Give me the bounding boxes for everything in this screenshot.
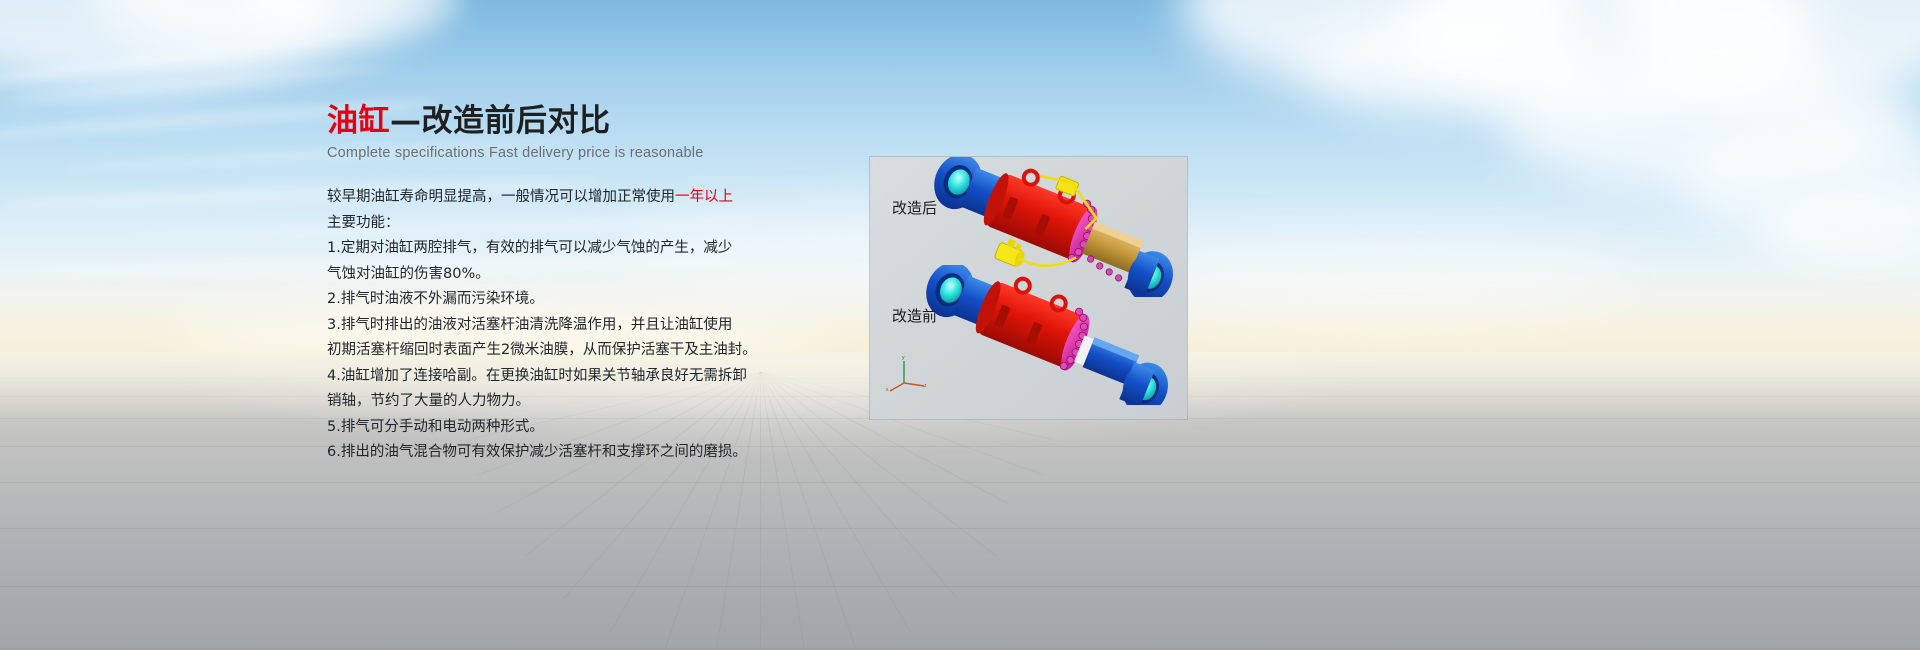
page-title-highlight: 油缸 bbox=[327, 103, 390, 139]
body-copy: 较早期油缸寿命明显提高，一般情况可以增加正常使用一年以上 主要功能： 1.定期对… bbox=[327, 185, 847, 466]
body-line: 1.定期对油缸两腔排气，有效的排气可以减少气蚀的产生，减少 bbox=[327, 236, 847, 262]
page-title-rest: —改造前后对比 bbox=[390, 103, 611, 139]
body-line: 气蚀对油缸的伤害80%。 bbox=[327, 262, 847, 288]
body-line: 3.排气时排出的油液对活塞杆油清洗降温作用，并且让油缸使用 bbox=[327, 313, 847, 339]
body-line: 主要功能： bbox=[327, 211, 847, 237]
tile-line bbox=[0, 482, 1920, 483]
body-line: 初期活塞杆缩回时表面产生2微米油膜，从而保护活塞干及主油封。 bbox=[327, 338, 847, 364]
body-line-text: 1.定期对油缸两腔排气，有效的排气可以减少气蚀的产生，减少 bbox=[327, 240, 732, 256]
body-line-text: 2.排气时油液不外漏而污染环境。 bbox=[327, 291, 544, 307]
body-line-text: 主要功能： bbox=[327, 215, 400, 231]
body-line: 较早期油缸寿命明显提高，一般情况可以增加正常使用一年以上 bbox=[327, 185, 847, 211]
svg-text:z: z bbox=[924, 383, 927, 389]
body-line: 5.排气可分手动和电动两种形式。 bbox=[327, 415, 847, 441]
body-line: 4.油缸增加了连接哈副。在更换油缸时如果关节轴承良好无需拆卸 bbox=[327, 364, 847, 390]
comparison-image-panel: 改造后 改造前 bbox=[870, 157, 1187, 419]
body-line: 6.排出的油气混合物可有效保护减少活塞杆和支撑环之间的磨损。 bbox=[327, 440, 847, 466]
hydraulic-cylinder-before-render bbox=[906, 265, 1186, 405]
body-line-text: 初期活塞杆缩回时表面产生2微米油膜，从而保护活塞干及主油封。 bbox=[327, 342, 757, 358]
body-line-text: 6.排出的油气混合物可有效保护减少活塞杆和支撑环之间的磨损。 bbox=[327, 444, 747, 460]
coordinate-triad-icon: x y z bbox=[886, 353, 930, 393]
body-line-text: 气蚀对油缸的伤害80%。 bbox=[327, 266, 490, 282]
svg-text:x: x bbox=[886, 387, 889, 393]
tile-line bbox=[0, 586, 1920, 587]
tile-line bbox=[0, 446, 1920, 447]
body-line-text: 销轴，节约了大量的人力物力。 bbox=[327, 393, 530, 409]
text-column: 油缸—改造前后对比 Complete specifications Fast d… bbox=[327, 104, 847, 466]
tile-line bbox=[0, 648, 1920, 649]
page-title: 油缸—改造前后对比 bbox=[327, 104, 847, 138]
body-line-text: 较早期油缸寿命明显提高，一般情况可以增加正常使用 bbox=[327, 189, 675, 205]
body-line-text: 5.排气可分手动和电动两种形式。 bbox=[327, 419, 544, 435]
banner-stage: 油缸—改造前后对比 Complete specifications Fast d… bbox=[0, 0, 1920, 650]
body-line: 销轴，节约了大量的人力物力。 bbox=[327, 389, 847, 415]
body-line: 2.排气时油液不外漏而污染环境。 bbox=[327, 287, 847, 313]
cloud bbox=[1150, 230, 1630, 320]
body-line-text: 4.油缸增加了连接哈副。在更换油缸时如果关节轴承良好无需拆卸 bbox=[327, 368, 747, 384]
body-line-text: 3.排气时排出的油液对活塞杆油清洗降温作用，并且让油缸使用 bbox=[327, 317, 732, 333]
svg-text:y: y bbox=[902, 355, 905, 361]
body-line-highlight: 一年以上 bbox=[675, 189, 733, 205]
page-subtitle: Complete specifications Fast delivery pr… bbox=[327, 145, 847, 161]
